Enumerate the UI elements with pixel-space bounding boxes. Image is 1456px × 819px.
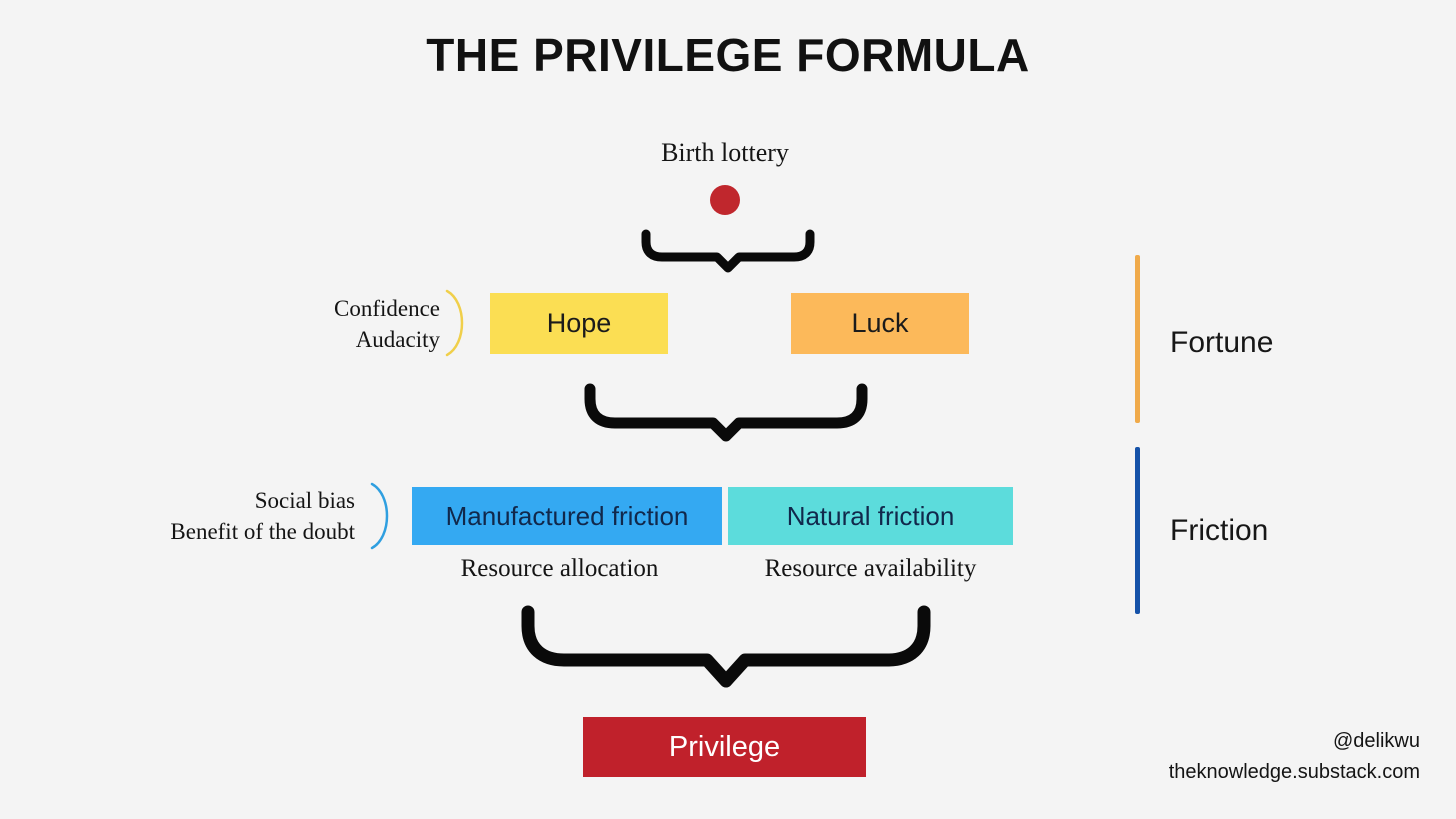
box-privilege[interactable]: Privilege	[583, 717, 866, 777]
caption-resource-availability: Resource availability	[728, 555, 1013, 583]
brace-fortune-to-friction-icon	[583, 382, 869, 444]
brace-friction-to-privilege-icon	[520, 604, 932, 690]
footer-handle: @delikwu	[1020, 726, 1420, 757]
page-title: THE PRIVILEGE FORMULA	[0, 28, 1456, 82]
friction-annotation-line-1: Social bias	[60, 485, 355, 516]
legend-bar-fortune	[1135, 255, 1140, 423]
fortune-annotation-arc-icon	[443, 288, 473, 358]
friction-annotation: Social bias Benefit of the doubt	[60, 485, 355, 547]
box-hope[interactable]: Hope	[490, 293, 668, 354]
fortune-annotation-line-2: Audacity	[240, 324, 440, 355]
birth-lottery-label: Birth lottery	[525, 138, 925, 168]
caption-resource-allocation: Resource allocation	[412, 555, 707, 583]
footer-credits: @delikwu theknowledge.substack.com	[1020, 726, 1420, 788]
brace-birth-to-fortune-icon	[640, 228, 816, 274]
fortune-annotation: Confidence Audacity	[240, 293, 440, 355]
legend-label-fortune: Fortune	[1170, 326, 1273, 360]
box-natural-friction[interactable]: Natural friction	[728, 487, 1013, 545]
legend-label-friction: Friction	[1170, 514, 1268, 548]
fortune-annotation-line-1: Confidence	[240, 293, 440, 324]
friction-annotation-line-2: Benefit of the doubt	[60, 516, 355, 547]
friction-annotation-arc-icon	[368, 481, 398, 551]
legend-bar-friction	[1135, 447, 1140, 614]
footer-site: theknowledge.substack.com	[1020, 757, 1420, 788]
diagram-canvas: THE PRIVILEGE FORMULA Birth lottery Conf…	[0, 0, 1456, 819]
box-manufactured-friction[interactable]: Manufactured friction	[412, 487, 722, 545]
birth-lottery-dot-icon	[710, 185, 740, 215]
box-luck[interactable]: Luck	[791, 293, 969, 354]
